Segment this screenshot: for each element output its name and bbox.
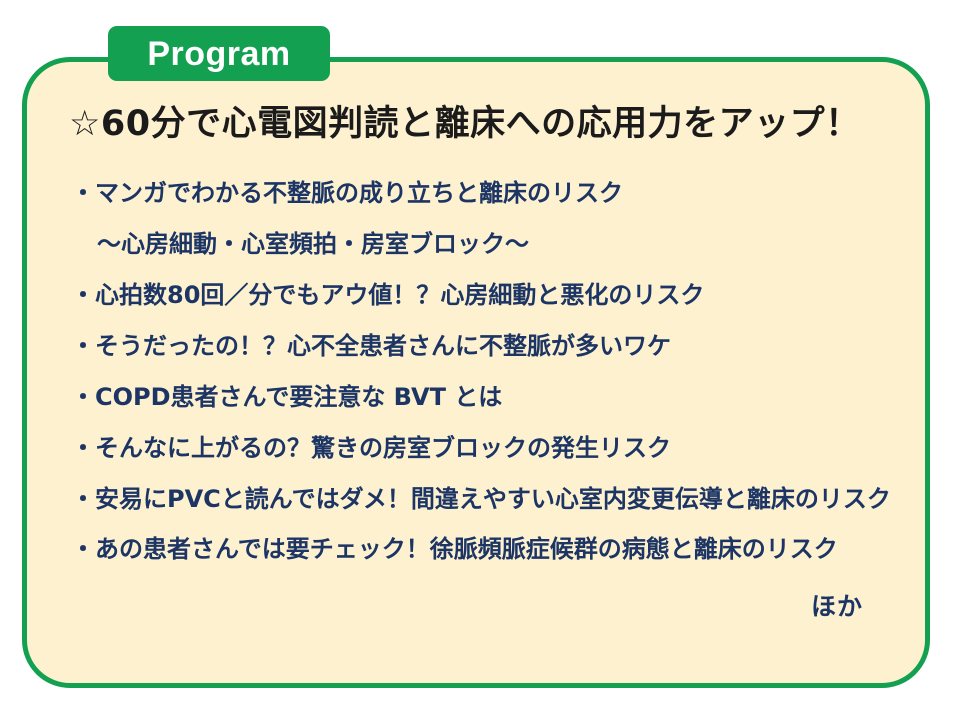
list-item: ・そうだったの！？心不全患者さんに不整脈が多いワケ (71, 333, 891, 360)
list-item: 〜心房細動・心室頻拍・房室ブロック〜 (97, 231, 891, 258)
list-item: ・マンガでわかる不整脈の成り立ちと離床のリスク (71, 180, 891, 207)
list-item: ・COPD患者さんで要注意な BVT とは (71, 384, 891, 411)
slide-canvas: ☆60分で心電図判読と離床への応用力をアップ！ ・マンガでわかる不整脈の成り立ち… (0, 0, 960, 720)
program-card: ☆60分で心電図判読と離床への応用力をアップ！ ・マンガでわかる不整脈の成り立ち… (22, 57, 930, 688)
list-item: ・安易にPVCと読んではダメ！間違えやすい心室内変更伝導と離床のリスク (71, 486, 891, 513)
list-item: ・心拍数80回／分でもアウ値！？心房細動と悪化のリスク (71, 282, 891, 309)
program-tab: Program (108, 26, 330, 81)
page-title: ☆60分で心電図判読と離床への応用力をアップ！ (69, 104, 891, 144)
footnote-text: ほか (65, 587, 863, 623)
program-tab-label: Program (147, 37, 290, 71)
list-item: ・そんなに上がるの？驚きの房室ブロックの発生リスク (71, 435, 891, 462)
program-bullet-list: ・マンガでわかる不整脈の成り立ちと離床のリスク 〜心房細動・心室頻拍・房室ブロッ… (65, 180, 891, 563)
program-card-body: ☆60分で心電図判読と離床への応用力をアップ！ ・マンガでわかる不整脈の成り立ち… (27, 62, 925, 683)
list-item: ・あの患者さんでは要チェック！徐脈頻脈症候群の病態と離床のリスク (71, 536, 891, 563)
